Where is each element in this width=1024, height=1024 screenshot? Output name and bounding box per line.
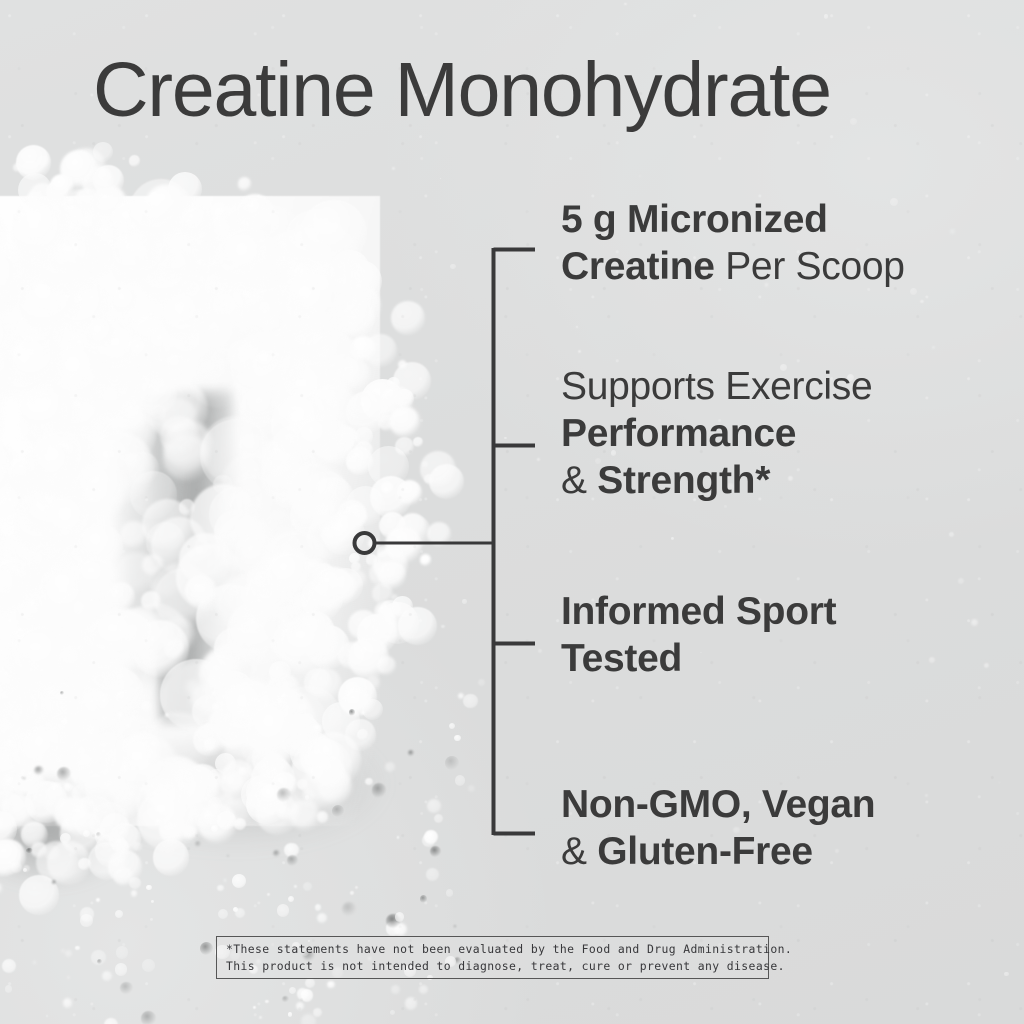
feature-informed-sport-tested: Informed Sport Tested (561, 588, 1011, 682)
feature-text-bold: Strength* (597, 459, 770, 502)
feature-line: Non-GMO, Vegan (561, 781, 1011, 828)
disclaimer-line-2: This product is not intended to diagnose… (226, 958, 759, 975)
feature-line: Creatine Per Scoop (561, 243, 1011, 290)
feature-line: Tested (561, 635, 1011, 682)
feature-text-ampersand: & (561, 830, 587, 873)
feature-line: Informed Sport (561, 588, 1011, 635)
feature-text-ampersand: & (561, 459, 587, 502)
disclaimer-line-1: *These statements have not been evaluate… (226, 941, 759, 958)
feature-text-bold: 5 g Micronized (561, 198, 828, 241)
feature-5g-micronized-creatine: 5 g Micronized Creatine Per Scoop (561, 196, 1011, 290)
feature-line: & Gluten-Free (561, 828, 1011, 875)
feature-text-bold: Performance (561, 412, 796, 455)
feature-line: Performance (561, 410, 1011, 457)
fda-disclaimer-box: *These statements have not been evaluate… (216, 936, 769, 979)
feature-text-bold: Gluten-Free (597, 830, 813, 873)
feature-line: & Strength* (561, 457, 1011, 504)
feature-text-bold: Non-GMO, Vegan (561, 783, 875, 826)
feature-list: 5 g Micronized Creatine Per Scoop Suppor… (0, 0, 1024, 1024)
feature-text-regular: Per Scoop (725, 245, 904, 288)
feature-text-bold: Tested (561, 637, 682, 680)
feature-text-bold: Informed Sport (561, 590, 836, 633)
product-feature-card: Creatine Monohydrate 5 g Micronized Crea… (0, 0, 1024, 1024)
feature-text-bold: Creatine (561, 245, 715, 288)
feature-line: 5 g Micronized (561, 196, 1011, 243)
feature-non-gmo-vegan-gluten-free: Non-GMO, Vegan & Gluten-Free (561, 781, 1011, 875)
feature-supports-exercise-performance: Supports Exercise Performance & Strength… (561, 363, 1011, 504)
feature-text-regular: Supports Exercise (561, 365, 872, 408)
feature-line: Supports Exercise (561, 363, 1011, 410)
